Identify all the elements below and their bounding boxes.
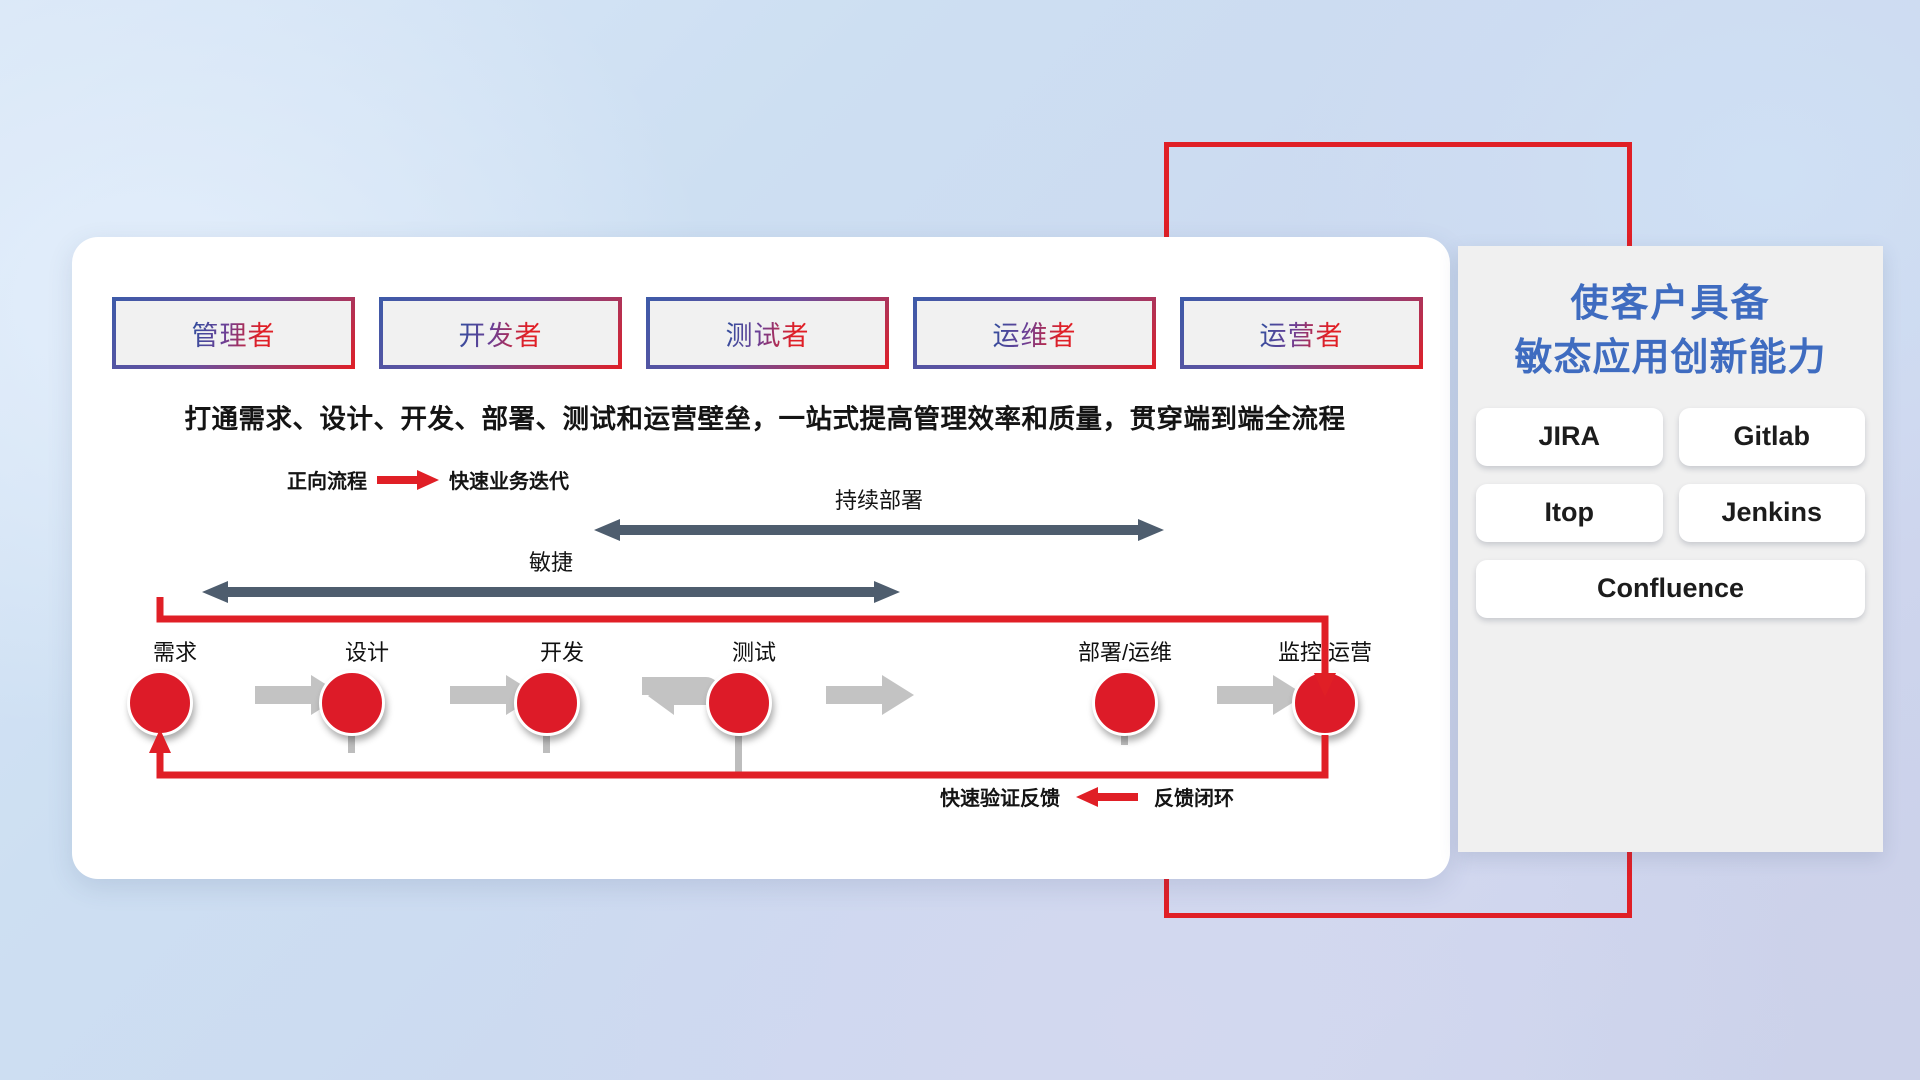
- node-dot: [1092, 670, 1158, 736]
- node-dot: [514, 670, 580, 736]
- tool-panel: 使客户具备 敏态应用创新能力 JIRA Gitlab Itop Jenkins …: [1458, 246, 1883, 852]
- panel-title-line1: 使客户具备: [1458, 278, 1883, 332]
- role-label: 测试者: [726, 314, 810, 353]
- role-label: 运维者: [993, 314, 1077, 353]
- forward-flow-to-label: 快速业务迭代: [449, 465, 569, 494]
- node-dot: [319, 670, 385, 736]
- arrow-left-icon: [1076, 787, 1138, 807]
- tool-pill-gitlab[interactable]: Gitlab: [1679, 408, 1866, 466]
- node-label: 部署/运维: [1078, 635, 1172, 667]
- role-box-row: 管理者 开发者 测试者 运维者 运营者: [112, 297, 1423, 369]
- arrow-right-icon: [377, 470, 439, 490]
- main-diagram-card: 管理者 开发者 测试者 运维者 运营者 打通需求、设计、开发、部署、测试和运营壁…: [72, 237, 1450, 879]
- tool-pill-jenkins[interactable]: Jenkins: [1679, 484, 1866, 542]
- headline-text: 打通需求、设计、开发、部署、测试和运营壁垒，一站式提高管理效率和质量，贯穿端到端…: [120, 397, 1410, 436]
- role-label: 开发者: [459, 314, 543, 353]
- pipeline: 需求 设计 开发 测试 部署/运维 监控/运营: [72, 597, 1450, 787]
- pipeline-node-requirement[interactable]: 需求: [123, 635, 197, 736]
- span-label: 敏捷: [202, 545, 900, 577]
- continuous-deployment-span: 持续部署: [594, 483, 1164, 548]
- tool-list: JIRA Gitlab Itop Jenkins Confluence: [1476, 408, 1865, 618]
- tool-pill-confluence[interactable]: Confluence: [1476, 560, 1865, 618]
- panel-title-line2: 敏态应用创新能力: [1458, 332, 1883, 386]
- node-dot: [1292, 670, 1358, 736]
- role-box-developer[interactable]: 开发者: [379, 297, 622, 369]
- role-label: 运营者: [1260, 314, 1344, 353]
- pipeline-node-design[interactable]: 设计: [315, 635, 389, 736]
- feedback-flow-caption: 快速验证反馈 反馈闭环: [940, 782, 1234, 811]
- role-label: 管理者: [192, 314, 276, 353]
- role-box-ops[interactable]: 运维者: [913, 297, 1156, 369]
- double-headed-arrow-icon: [594, 517, 1164, 543]
- node-label: 需求: [153, 635, 197, 667]
- node-dot: [706, 670, 772, 736]
- panel-title: 使客户具备 敏态应用创新能力: [1458, 278, 1883, 386]
- pipeline-node-develop[interactable]: 开发: [510, 635, 584, 736]
- span-label: 持续部署: [594, 483, 1164, 515]
- node-dot: [127, 670, 193, 736]
- pipeline-node-monitor-operate[interactable]: 监控/运营: [1288, 635, 1362, 736]
- node-label: 监控/运营: [1278, 635, 1372, 667]
- role-box-tester[interactable]: 测试者: [646, 297, 889, 369]
- role-box-manager[interactable]: 管理者: [112, 297, 355, 369]
- node-label: 开发: [540, 635, 584, 667]
- forward-flow-caption: 正向流程 快速业务迭代: [287, 465, 569, 494]
- pipeline-node-deploy-ops[interactable]: 部署/运维: [1088, 635, 1162, 736]
- tool-pill-jira[interactable]: JIRA: [1476, 408, 1663, 466]
- tool-pill-itop[interactable]: Itop: [1476, 484, 1663, 542]
- arrow-right-icon: [826, 675, 914, 715]
- node-label: 设计: [345, 635, 389, 667]
- role-box-operator[interactable]: 运营者: [1180, 297, 1423, 369]
- pipeline-node-test[interactable]: 测试: [702, 635, 776, 736]
- feedback-flow-from-label: 快速验证反馈: [940, 782, 1060, 811]
- forward-flow-from-label: 正向流程: [287, 465, 367, 494]
- node-label: 测试: [732, 635, 776, 667]
- slide-canvas: 管理者 开发者 测试者 运维者 运营者 打通需求、设计、开发、部署、测试和运营壁…: [0, 0, 1920, 1080]
- feedback-flow-to-label: 反馈闭环: [1154, 782, 1234, 811]
